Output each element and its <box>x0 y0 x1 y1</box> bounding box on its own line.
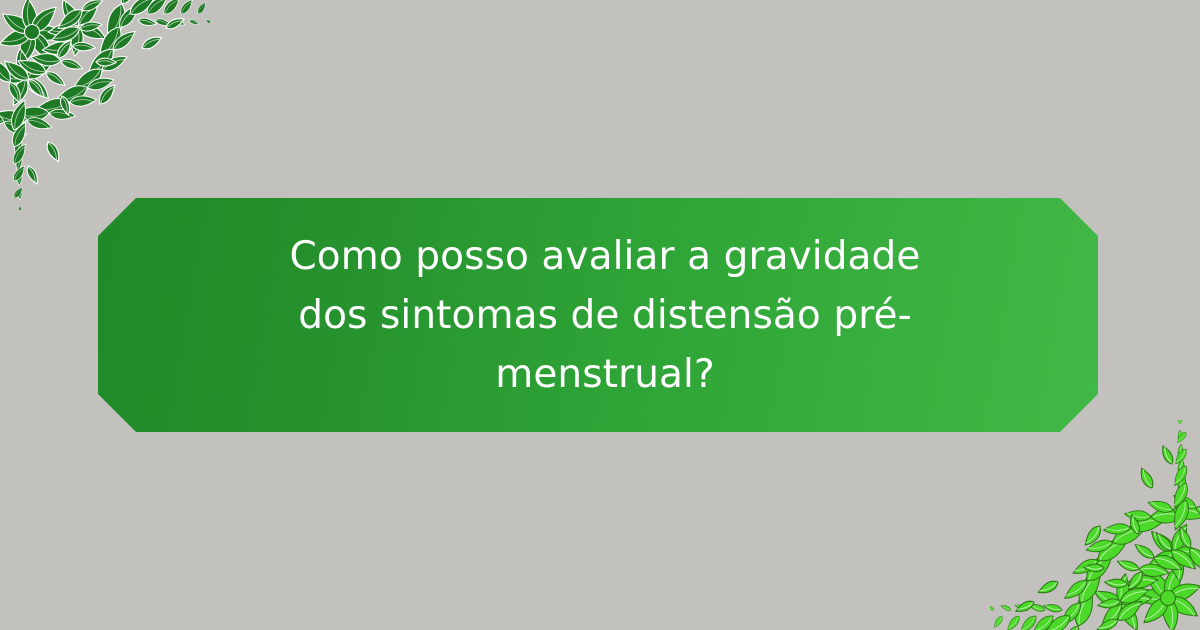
banner-canvas: Como posso avaliar a gravidade dos sinto… <box>0 0 1200 630</box>
question-banner: Como posso avaliar a gravidade dos sinto… <box>98 198 1098 432</box>
question-text: Como posso avaliar a gravidade dos sinto… <box>268 227 928 404</box>
